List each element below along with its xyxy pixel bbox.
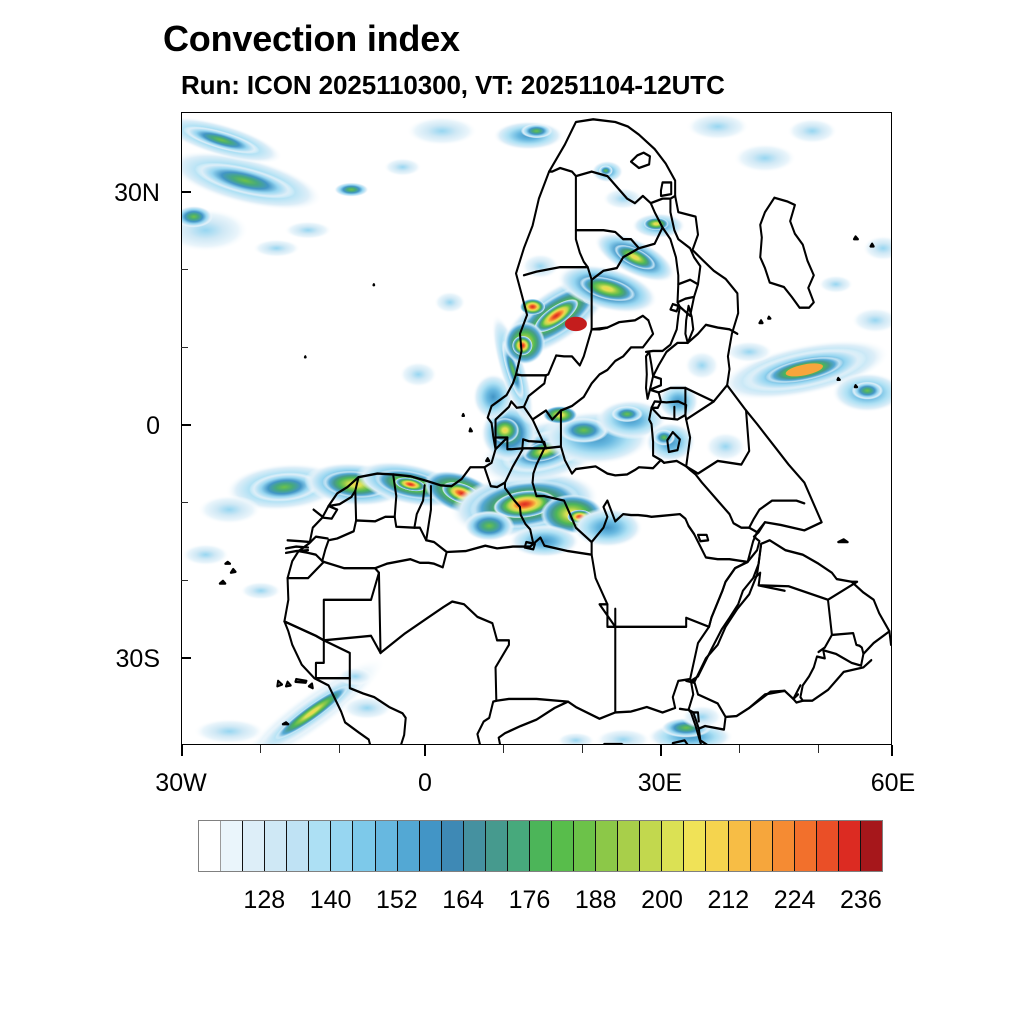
figure-root: Convection index Run: ICON 2025110300, V…	[0, 0, 1024, 1024]
x-tick-30e	[660, 745, 662, 756]
colorbar-cell	[618, 821, 640, 871]
map-canvas	[182, 113, 891, 744]
y-tick-minor-20s	[181, 580, 188, 581]
colorbar-cell	[442, 821, 464, 871]
colorbar-cell	[552, 821, 574, 871]
x-axis-label-0: 0	[355, 769, 495, 798]
colorbar-tick-label: 236	[816, 886, 906, 915]
y-tick-minor-20n	[181, 269, 188, 270]
colorbar-cell	[199, 821, 221, 871]
y-tick-30n	[181, 191, 191, 193]
y-axis-label-30s: 30S	[40, 645, 160, 674]
y-axis-label-0: 0	[40, 412, 160, 441]
x-tick-minor-20e	[582, 745, 583, 753]
colorbar-cell	[221, 821, 243, 871]
x-tick-60e	[891, 745, 893, 756]
colorbar-cell	[729, 821, 751, 871]
colorbar-cell	[398, 821, 420, 871]
x-tick-30w	[181, 745, 183, 756]
colorbar-cell	[817, 821, 839, 871]
y-tick-30s	[181, 657, 191, 659]
colorbar-cell	[795, 821, 817, 871]
colorbar-cell	[287, 821, 309, 871]
y-tick-minor-10n	[181, 347, 188, 348]
colorbar-cell	[265, 821, 287, 871]
x-axis-label-60e: 60E	[823, 769, 963, 798]
colorbar-cell	[861, 821, 882, 871]
colorbar-cell	[684, 821, 706, 871]
colorbar-cell	[353, 821, 375, 871]
colorbar-cell	[574, 821, 596, 871]
x-tick-0	[424, 745, 426, 756]
x-tick-minor-10w	[339, 745, 340, 753]
x-axis-label-30e: 30E	[590, 769, 730, 798]
run-valid-time-subtitle: Run: ICON 2025110300, VT: 20251104-12UTC	[181, 70, 725, 101]
colorbar-cell	[839, 821, 861, 871]
colorbar-cell	[309, 821, 331, 871]
colorbar-cell	[508, 821, 530, 871]
x-tick-minor-40e	[739, 745, 740, 753]
colorbar-cell	[486, 821, 508, 871]
colorbar-cell	[376, 821, 398, 871]
x-tick-minor-20w	[260, 745, 261, 753]
colorbar-cell	[464, 821, 486, 871]
colorbar-cell	[331, 821, 353, 871]
colorbar-cell	[662, 821, 684, 871]
page-title: Convection index	[163, 18, 460, 60]
colorbar-cell	[773, 821, 795, 871]
colorbar-cell	[243, 821, 265, 871]
colorbar	[198, 820, 883, 872]
colorbar-cell	[420, 821, 442, 871]
y-axis-label-30n: 30N	[40, 179, 160, 208]
colorbar-cell	[640, 821, 662, 871]
y-tick-minor-10s	[181, 502, 188, 503]
colorbar-cell	[706, 821, 728, 871]
colorbar-cell	[596, 821, 618, 871]
colorbar-cell	[751, 821, 773, 871]
colorbar-cell	[530, 821, 552, 871]
x-tick-minor-50e	[818, 745, 819, 753]
x-tick-minor-10e	[503, 745, 504, 753]
map-plot-area	[181, 112, 892, 745]
y-tick-0	[181, 424, 191, 426]
x-axis-label-30w: 30W	[111, 769, 251, 798]
